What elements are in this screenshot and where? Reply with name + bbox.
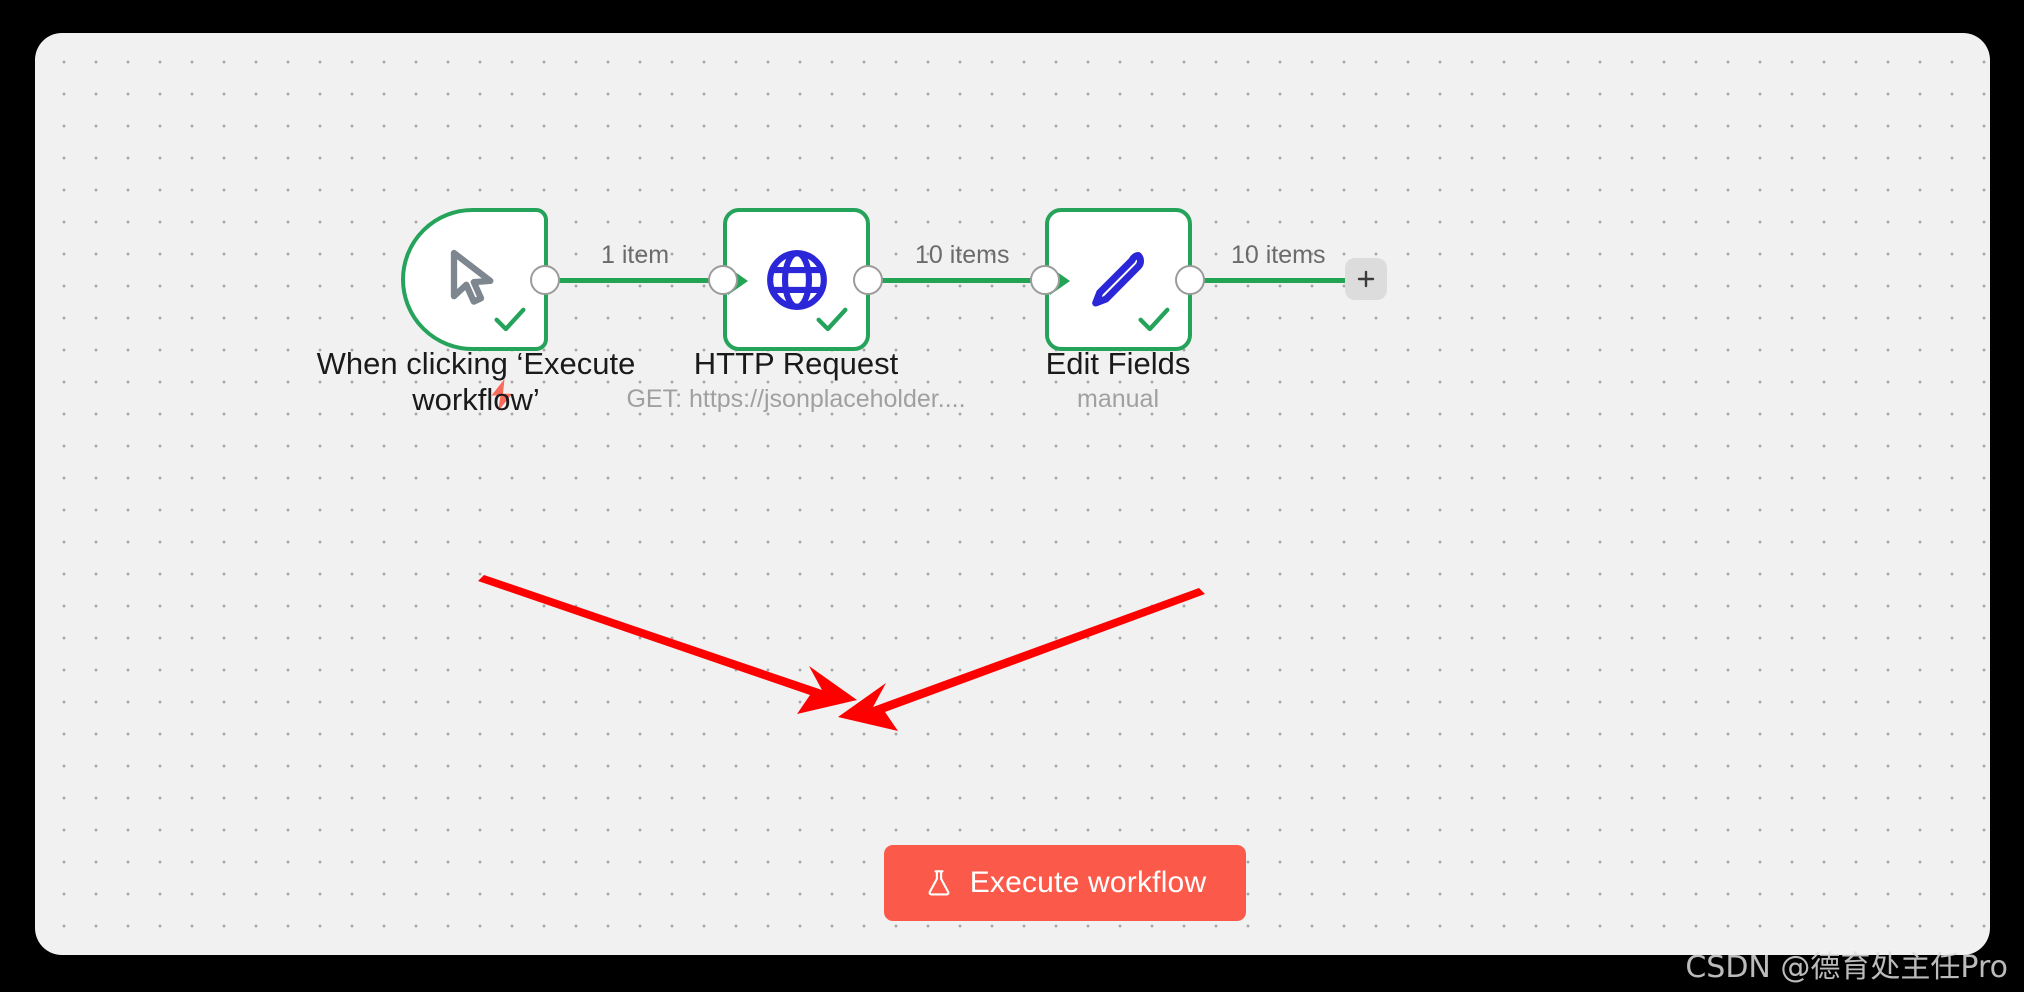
edit-fields-input-endpoint[interactable]	[1030, 265, 1060, 295]
flask-icon	[924, 868, 954, 898]
plus-icon	[1354, 267, 1378, 291]
node-http-request-subtitle: GET: https://jsonplaceholder....	[621, 385, 971, 414]
annotation-arrow-left	[478, 575, 857, 714]
success-check-icon	[1134, 299, 1174, 339]
connection-line-3	[1190, 278, 1350, 283]
node-trigger-title: When clicking ‘Execute workflow’	[291, 346, 661, 419]
workflow-canvas[interactable]: 1 item 10 items 10 items When clicking	[35, 33, 1990, 955]
node-http-request-title: HTTP Request	[621, 346, 971, 382]
execute-workflow-label: Execute workflow	[970, 866, 1207, 900]
connection-label-3: 10 items	[1231, 241, 1325, 270]
screenshot-root: 1 item 10 items 10 items When clicking	[0, 0, 2024, 992]
trigger-output-endpoint[interactable]	[530, 265, 560, 295]
edit-fields-output-endpoint[interactable]	[1175, 265, 1205, 295]
http-request-output-endpoint[interactable]	[853, 265, 883, 295]
node-edit-fields-title: Edit Fields	[943, 346, 1293, 382]
connection-label-1: 1 item	[601, 241, 669, 270]
success-check-icon	[490, 299, 530, 339]
annotation-arrows	[35, 33, 1990, 955]
node-edit-fields-subtitle: manual	[943, 385, 1293, 414]
execute-workflow-button[interactable]: Execute workflow	[884, 845, 1246, 921]
csdn-watermark: CSDN @德育处主任Pro	[1685, 942, 2008, 986]
annotation-arrow-right	[838, 588, 1205, 731]
connection-label-2: 10 items	[915, 241, 1009, 270]
add-node-button[interactable]	[1345, 258, 1387, 300]
success-check-icon	[812, 299, 852, 339]
node-trigger[interactable]	[401, 208, 548, 351]
http-request-input-endpoint[interactable]	[708, 265, 738, 295]
